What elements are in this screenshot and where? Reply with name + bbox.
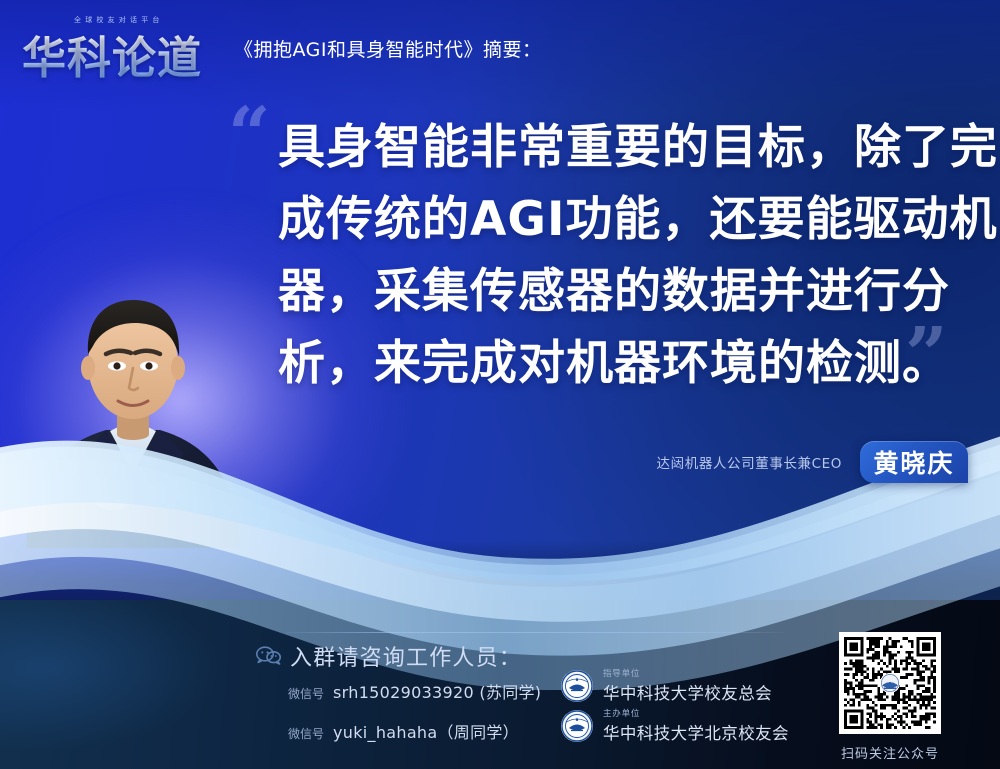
speaker-role: 达闼机器人公司董事长兼CEO (657, 452, 860, 472)
contact-value[interactable]: srh15029033920 (苏同学) (333, 679, 541, 703)
contact-value[interactable]: yuki_hahaha（周同学） (333, 719, 519, 743)
brand-logo[interactable]: 全球校友对话平台 华科论道 (22, 14, 220, 70)
university-seal-icon (560, 669, 594, 703)
poster-root: 全球校友对话平台 华科论道 《拥抱AGI和具身智能时代》摘要： “ ” 具身智能… (0, 0, 1000, 769)
footer-title: 入群请咨询工作人员： (290, 640, 522, 672)
header: 全球校友对话平台 华科论道 《拥抱AGI和具身智能时代》摘要： (22, 14, 542, 70)
attribution: 达闼机器人公司董事长兼CEO 黄晓庆 (657, 441, 968, 483)
quote-block: 具身智能非常重要的目标，除了完 成传统的AGI功能，还要能驱动机 器，采集传感器… (278, 112, 944, 400)
qr-caption: 扫码关注公众号 (834, 743, 946, 762)
footer-divider (285, 632, 785, 633)
organization-row: 主办单位 华中科技大学北京校友会 (560, 707, 789, 744)
header-subtitle: 《拥抱AGI和具身智能时代》摘要： (234, 41, 542, 70)
contact-row: 微信号 yuki_hahaha（周同学） (288, 719, 519, 743)
quote-line: 成传统的AGI功能，还要能驱动机 (278, 184, 944, 256)
speaker-name-badge: 黄晓庆 (860, 441, 968, 483)
quote-line: 析，来完成对机器环境的检测。 (278, 328, 944, 400)
organization-kind: 指导单位 (603, 667, 772, 679)
organization-name: 华中科技大学北京校友会 (603, 720, 789, 744)
contact-label: 微信号 (288, 685, 324, 702)
qr-code-image (844, 637, 936, 729)
organization-name: 华中科技大学校友总会 (603, 680, 772, 704)
university-seal-icon (560, 709, 594, 743)
quote-open-icon: “ (228, 98, 271, 172)
quote-line: 器，采集传感器的数据并进行分 (278, 256, 944, 328)
wechat-icon (256, 645, 282, 665)
speaker-name: 黄晓庆 (873, 444, 954, 480)
qr-code[interactable] (839, 632, 941, 734)
qr-block: 扫码关注公众号 (834, 632, 946, 762)
organization-text: 主办单位 华中科技大学北京校友会 (603, 707, 789, 744)
contact-label: 微信号 (288, 725, 324, 742)
organization-text: 指导单位 华中科技大学校友总会 (603, 667, 772, 704)
organization-row: 指导单位 华中科技大学校友总会 (560, 667, 772, 704)
contact-row: 微信号 srh15029033920 (苏同学) (288, 679, 541, 703)
organization-kind: 主办单位 (603, 707, 789, 719)
quote-line: 具身智能非常重要的目标，除了完 (278, 112, 944, 184)
logo-wordmark: 华科论道 (22, 22, 202, 86)
